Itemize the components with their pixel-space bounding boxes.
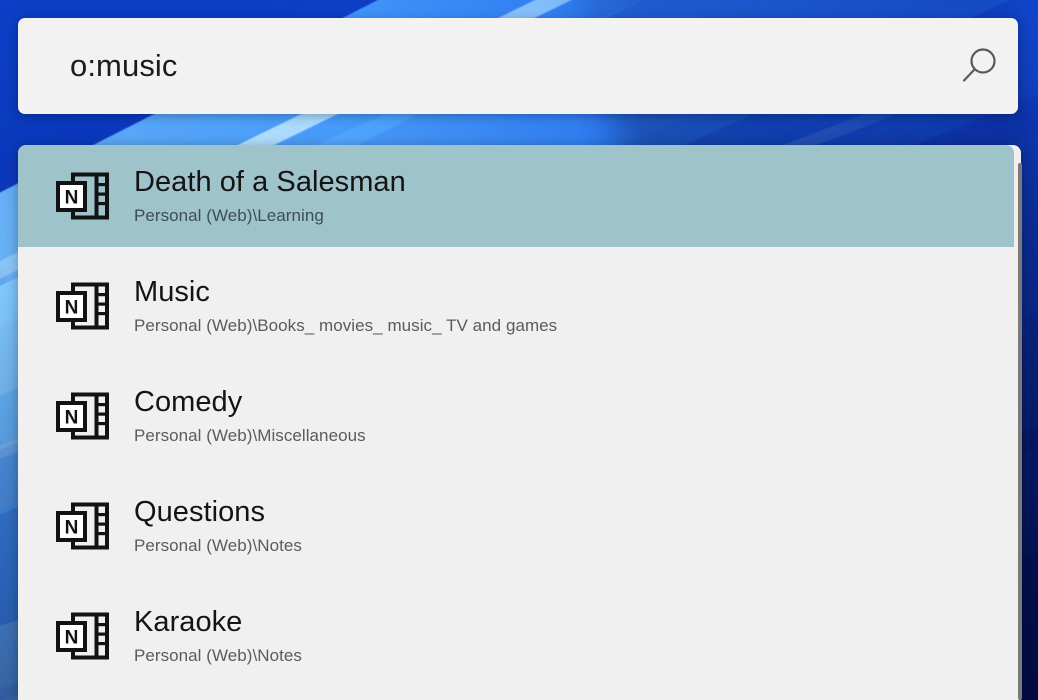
list-item-text: Comedy Personal (Web)\Miscellaneous [134,386,1014,446]
svg-text:N: N [65,518,79,539]
list-item-subtitle: Personal (Web)\Books_ movies_ music_ TV … [134,316,1014,336]
list-item[interactable]: N Death of a Salesman Personal (Web)\Lea… [18,145,1014,247]
list-item-subtitle: Personal (Web)\Learning [134,206,1014,226]
list-item-text: Death of a Salesman Personal (Web)\Learn… [134,166,1014,226]
svg-text:N: N [65,408,79,429]
onenote-icon: N [56,502,110,550]
vertical-scrollbar[interactable] [1018,145,1022,700]
list-item-title: Karaoke [134,606,1014,638]
list-item[interactable]: N Music Personal (Web)\Books_ movies_ mu… [18,255,1014,357]
list-item-text: Questions Personal (Web)\Notes [134,496,1014,556]
list-item-subtitle: Personal (Web)\Miscellaneous [134,426,1014,446]
list-spacer [18,577,1014,585]
results-list: N Death of a Salesman Personal (Web)\Lea… [18,145,1014,687]
onenote-icon: N [56,172,110,220]
search-bar[interactable] [18,18,1018,114]
search-icon [957,44,1001,88]
scrollbar-thumb[interactable] [1018,163,1022,700]
onenote-icon: N [56,612,110,660]
list-item-text: Karaoke Personal (Web)\Notes [134,606,1014,666]
list-item-text: Music Personal (Web)\Books_ movies_ musi… [134,276,1014,336]
list-spacer [18,247,1014,255]
svg-text:N: N [65,298,79,319]
svg-text:N: N [65,628,79,649]
search-input[interactable] [18,48,940,84]
search-submit-button[interactable] [940,18,1018,114]
list-item-title: Music [134,276,1014,308]
onenote-icon: N [56,392,110,440]
onenote-icon: N [56,282,110,330]
list-spacer [18,467,1014,475]
list-item-title: Death of a Salesman [134,166,1014,198]
list-spacer [18,357,1014,365]
list-item[interactable]: N Questions Personal (Web)\Notes [18,475,1014,577]
list-item-title: Comedy [134,386,1014,418]
list-item[interactable]: N Karaoke Personal (Web)\Notes [18,585,1014,687]
list-item[interactable]: N Comedy Personal (Web)\Miscellaneous [18,365,1014,467]
search-results-panel: N Death of a Salesman Personal (Web)\Lea… [18,145,1021,700]
list-item-subtitle: Personal (Web)\Notes [134,536,1014,556]
list-item-subtitle: Personal (Web)\Notes [134,646,1014,666]
list-item-title: Questions [134,496,1014,528]
svg-text:N: N [65,188,79,209]
